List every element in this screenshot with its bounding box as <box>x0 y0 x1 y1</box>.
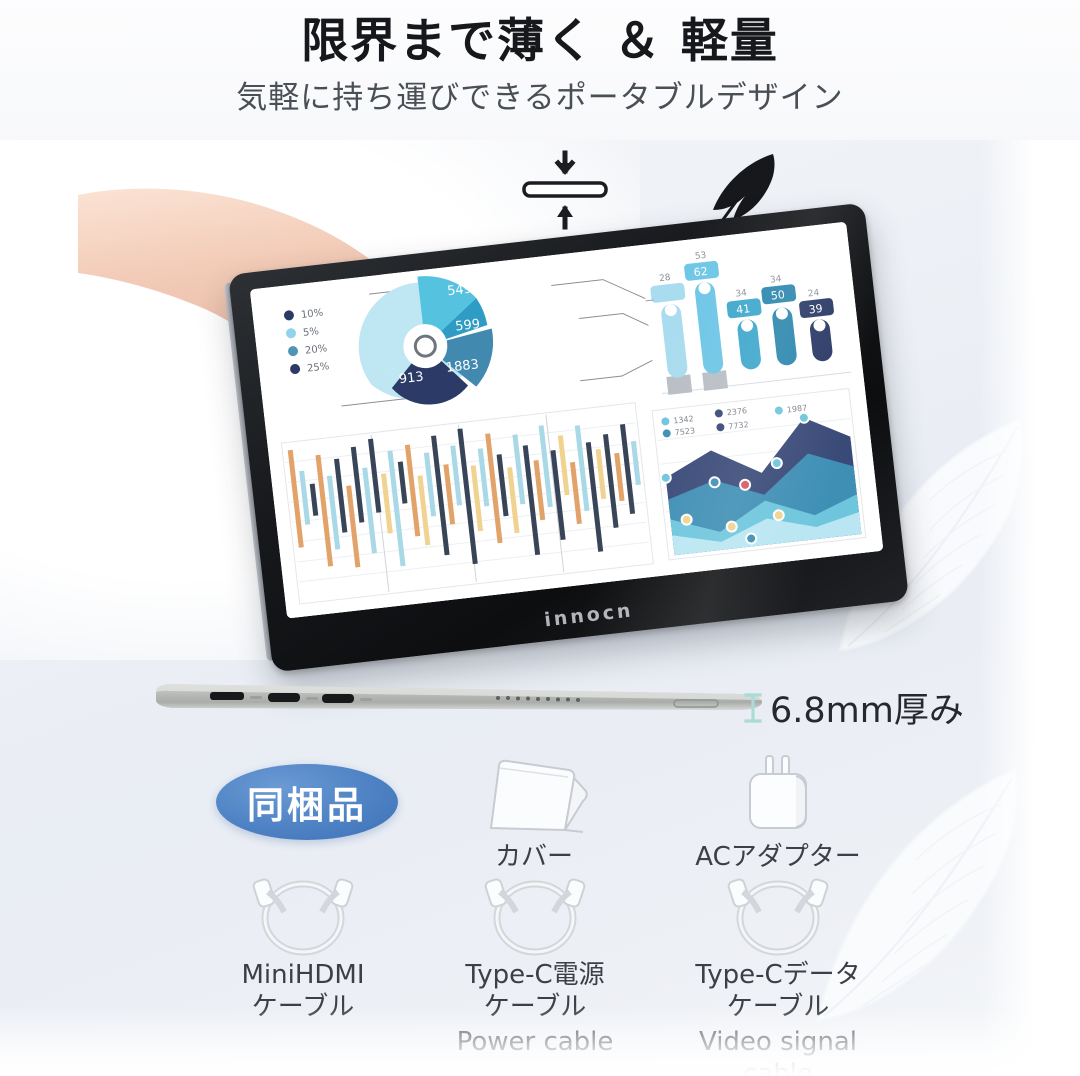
monitor-screen: 549 599 1883 913 10% 5% 20% 25% <box>250 222 884 619</box>
svg-text:53: 53 <box>694 251 707 262</box>
included-item-label: ACアダプター <box>672 842 884 874</box>
included-item-label: カバー <box>434 842 634 874</box>
monitor-side-profile <box>150 678 770 736</box>
bar-chart: 62 41 50 39 28 53 34 34 2 <box>640 231 855 399</box>
svg-text:549: 549 <box>446 282 472 300</box>
svg-text:34: 34 <box>735 288 748 299</box>
tablet-cover-icon <box>434 752 634 838</box>
svg-text:41: 41 <box>736 302 751 317</box>
svg-text:913: 913 <box>398 370 424 388</box>
svg-text:34: 34 <box>770 274 783 285</box>
cable-coil-icon <box>428 872 642 956</box>
included-item-adapter: ACアダプター <box>672 752 884 874</box>
included-items-badge-label: 同梱品 <box>247 775 367 829</box>
included-item-hdmi-cable: MiniHDMI ケーブル <box>196 872 410 1023</box>
svg-text:28: 28 <box>659 273 672 284</box>
background-right-margin <box>980 140 1080 1076</box>
svg-text:5%: 5% <box>302 326 319 339</box>
area-chart: 1342 2376 1987 7523 7732 <box>652 388 866 559</box>
cable-coil-icon <box>196 872 410 956</box>
svg-text:599: 599 <box>455 317 481 335</box>
page-subtitle: 気軽に持ち運びできるポータブルデザイン <box>0 72 1080 117</box>
thickness-callout: 6.8mm厚み <box>742 682 964 733</box>
portable-monitor: 549 599 1883 913 10% 5% 20% 25% <box>228 203 909 673</box>
svg-text:50: 50 <box>770 288 785 303</box>
hero-product-shot: 549 599 1883 913 10% 5% 20% 25% <box>78 155 898 665</box>
included-items-badge: 同梱品 <box>216 764 398 840</box>
svg-text:24: 24 <box>807 288 820 299</box>
svg-text:62: 62 <box>693 265 708 280</box>
ac-adapter-icon <box>672 752 884 838</box>
cable-coil-icon <box>660 872 896 956</box>
product-marketing-image: 限界まで薄く ＆ 軽量 気軽に持ち運びできるポータブルデザイン 6.8mm <box>0 0 1080 1076</box>
dashboard-content: 549 599 1883 913 10% 5% 20% 25% <box>250 222 884 619</box>
thickness-callout-text: 6.8mm厚み <box>770 682 964 733</box>
measure-marker-icon <box>742 690 764 726</box>
background-bottom-fade <box>0 1006 1080 1076</box>
svg-text:39: 39 <box>808 302 823 317</box>
included-item-cover: カバー <box>434 752 634 874</box>
page-title: 限界まで薄く ＆ 軽量 <box>0 2 1080 71</box>
